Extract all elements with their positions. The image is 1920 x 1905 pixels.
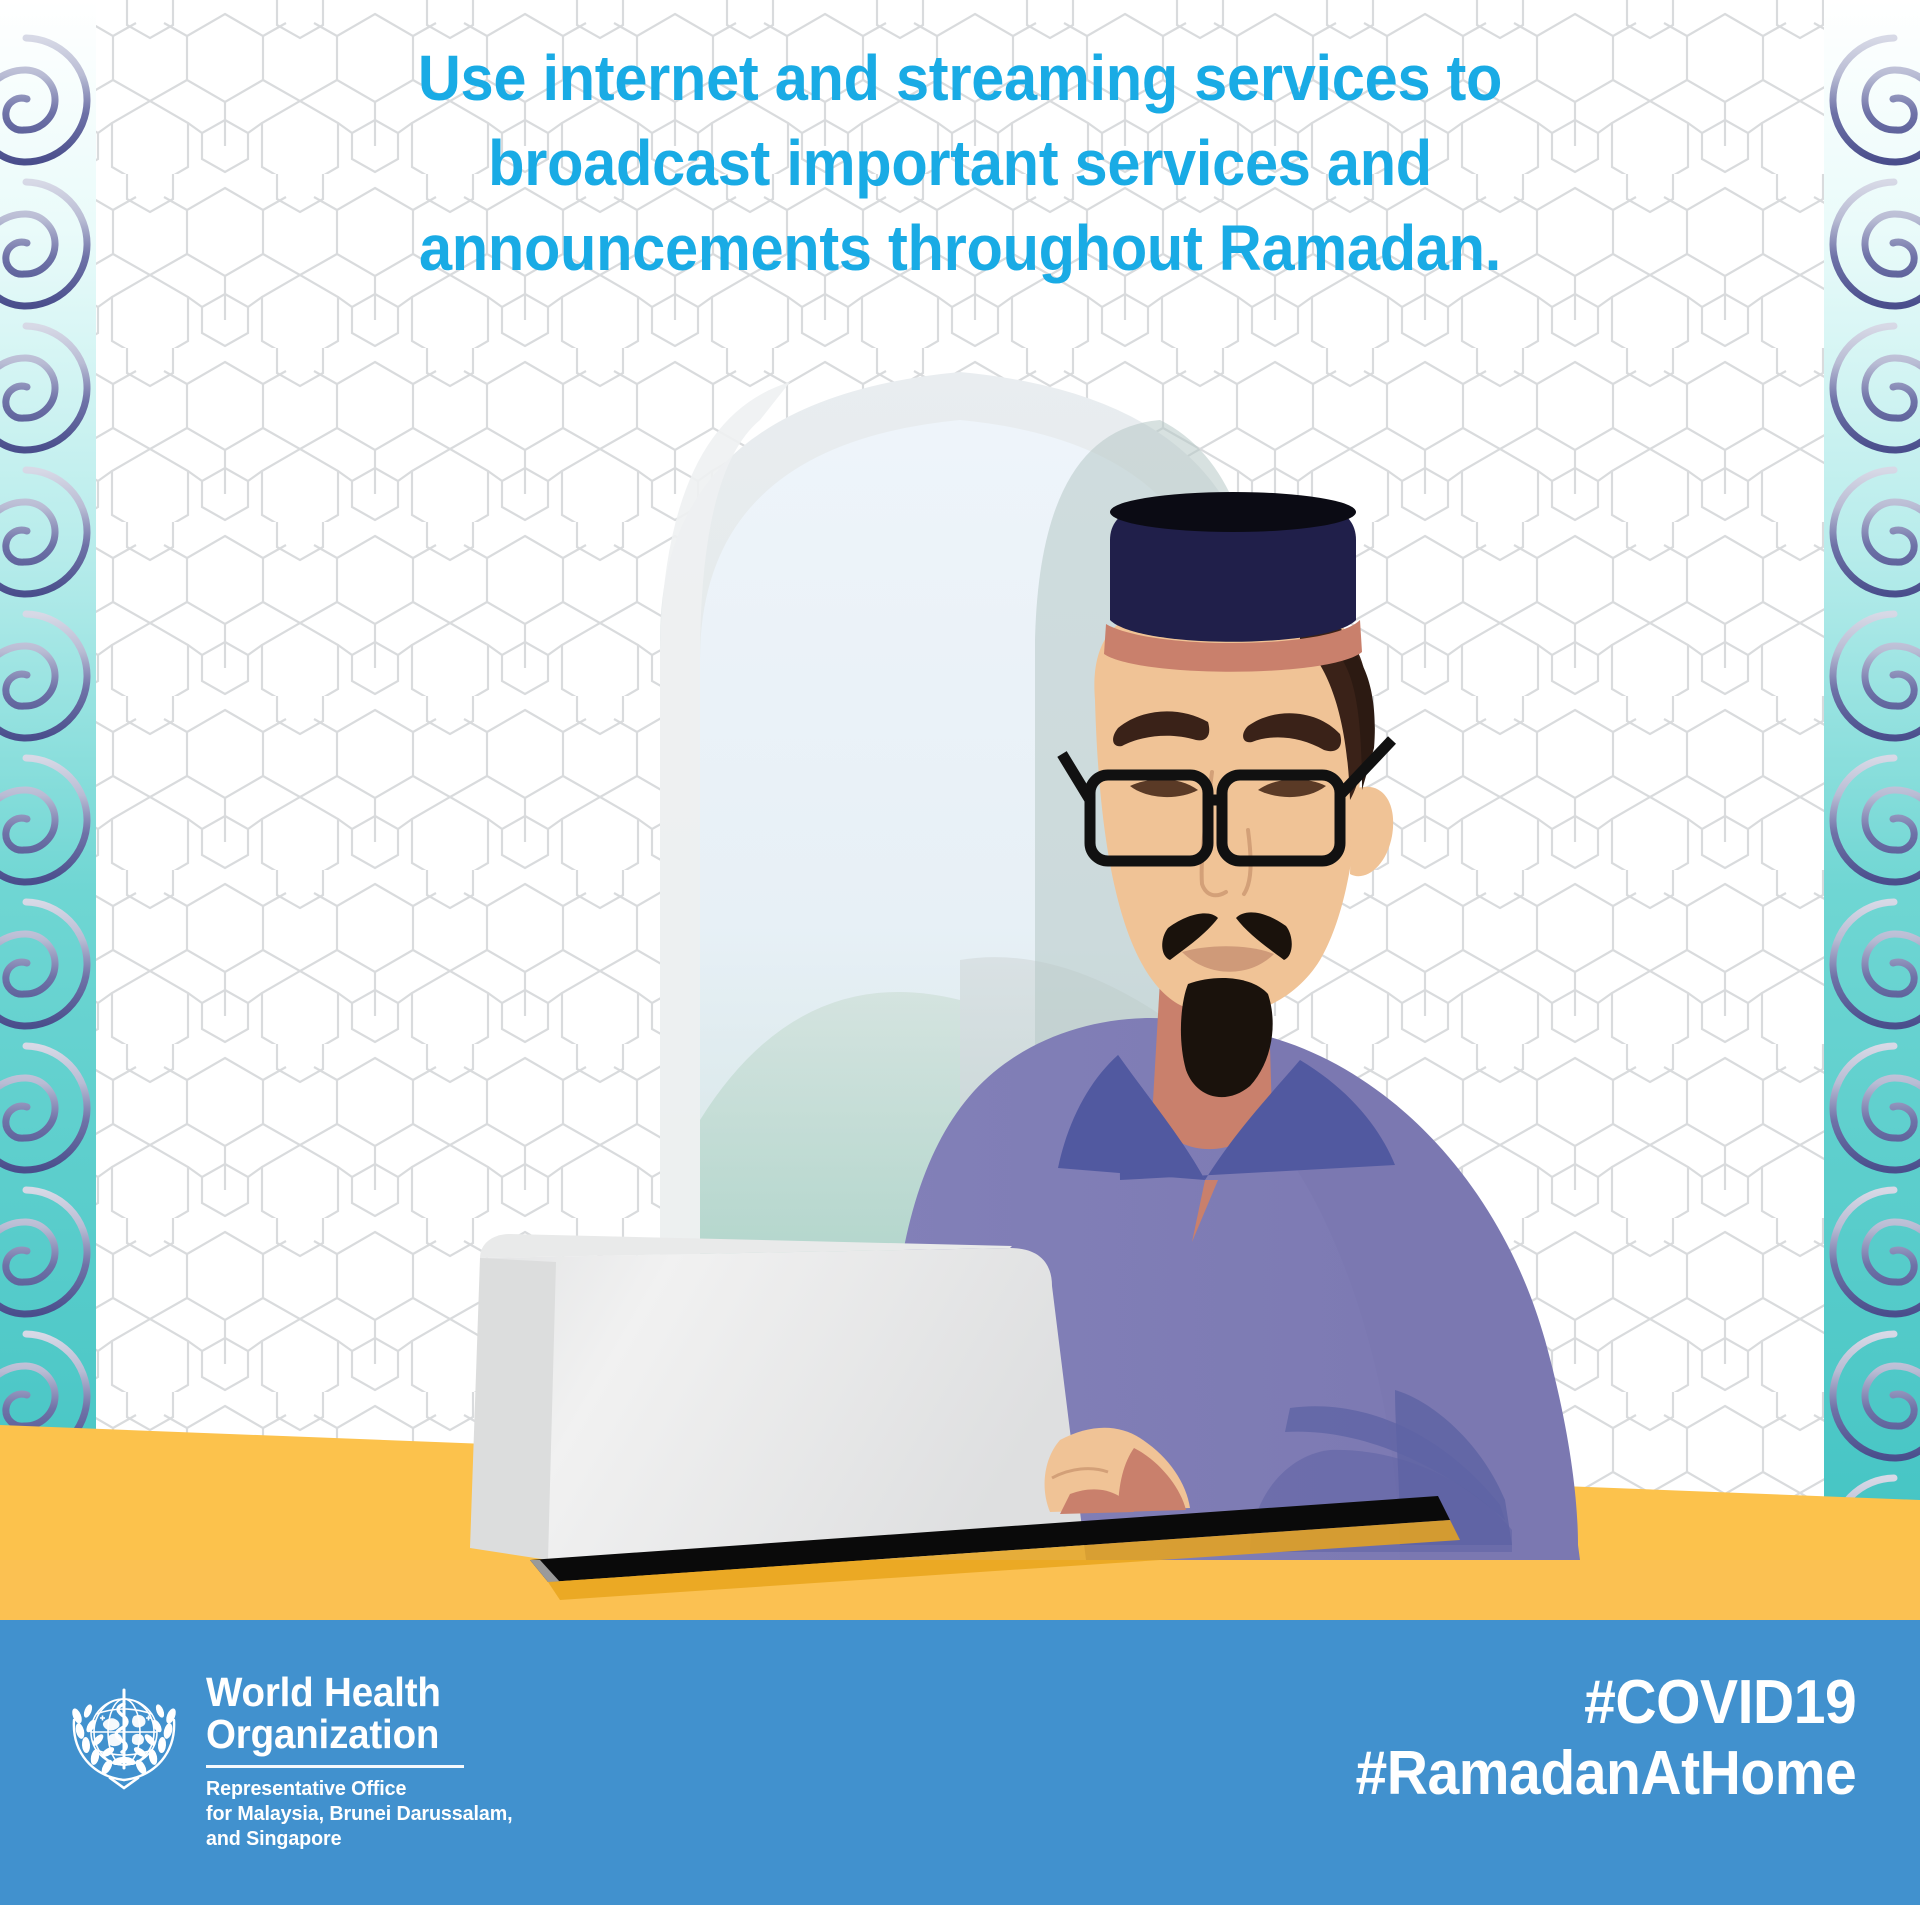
page-title: Use internet and streaming services to b…	[188, 36, 1732, 291]
who-divider	[206, 1765, 464, 1768]
who-emblem	[62, 1676, 186, 1800]
hashtag-covid19: #COVID19	[1355, 1668, 1856, 1739]
poster-canvas: Use internet and streaming services to b…	[0, 0, 1920, 1905]
hashtag-block: #COVID19 #RamadanAtHome	[1355, 1668, 1856, 1809]
who-logo-text: World Health Organization Representative…	[206, 1672, 525, 1851]
footer-bar: World Health Organization Representative…	[0, 1620, 1920, 1905]
who-office-name: Representative Office for Malaysia, Brun…	[206, 1776, 512, 1851]
hashtag-ramadanathome: #RamadanAtHome	[1355, 1739, 1856, 1810]
who-organization-name: World Health Organization	[206, 1672, 506, 1756]
who-logo: World Health Organization Representative…	[62, 1672, 525, 1851]
